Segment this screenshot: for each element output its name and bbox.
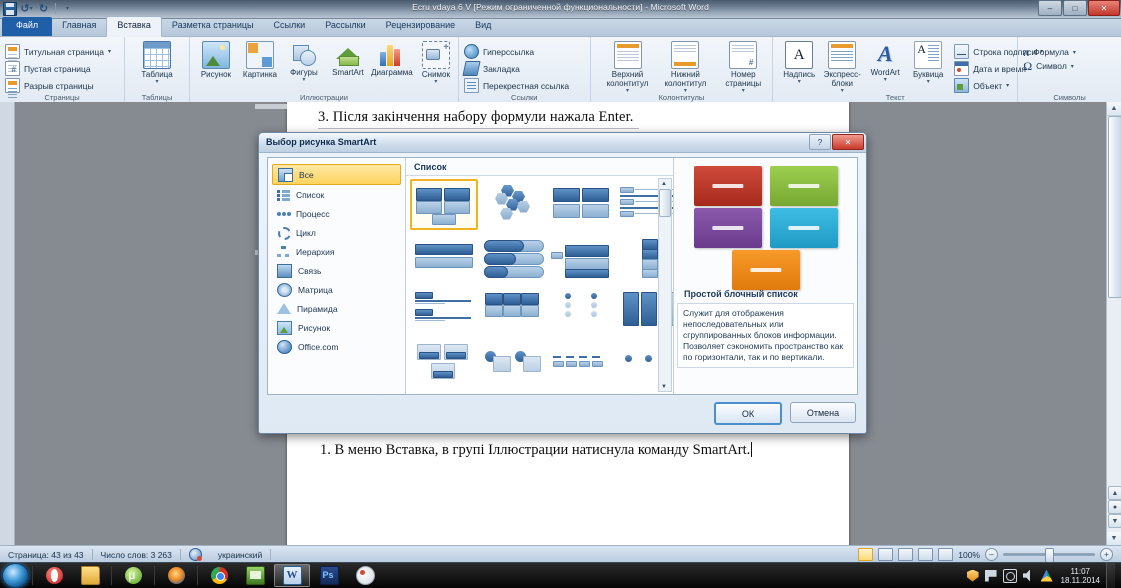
category-pyramid[interactable]: Пирамида <box>272 299 401 318</box>
dialog-window-controls: ? ✕ <box>809 134 864 150</box>
divider <box>154 566 155 585</box>
margin-mark <box>255 104 287 109</box>
wordart-icon: A <box>872 41 898 67</box>
chevron-down-icon: ▾ <box>1006 82 1009 89</box>
layout-hexagon-cluster[interactable] <box>480 179 546 228</box>
page-break-label: Разрыв страницы <box>24 81 94 91</box>
matrix-icon <box>277 283 292 297</box>
previous-page-button[interactable]: ▲ <box>1108 486 1121 500</box>
dialog-close-button[interactable]: ✕ <box>832 134 864 150</box>
footer-button[interactable]: Нижний колонтитул ▾ <box>661 41 709 94</box>
smartart-label: SmartArt <box>332 68 364 77</box>
chevron-down-icon: ▾ <box>884 78 887 83</box>
scroll-up-button[interactable]: ▲ <box>1107 102 1121 116</box>
group-label-illustrations: Иллюстрации <box>190 93 458 102</box>
group-label-text: Текст <box>773 93 1017 102</box>
photoshop-icon <box>320 566 339 585</box>
chrome-icon <box>211 567 228 584</box>
dialog-titlebar: Выбор рисунка SmartArt ? ✕ <box>259 133 866 153</box>
picture-icon <box>277 321 292 335</box>
scrollbar-thumb[interactable] <box>1108 116 1121 298</box>
cycle-icon <box>277 227 290 239</box>
pyramid-icon <box>277 303 291 314</box>
page-number-label: Номер страницы <box>719 70 767 88</box>
category-label: Рисунок <box>298 323 330 333</box>
footer-label: Нижний колонтитул <box>661 70 709 88</box>
document-area: 3. Після закінчення набору формули нажал… <box>0 102 1121 546</box>
shapes-button[interactable]: Фигуры ▾ <box>285 41 323 83</box>
window-controls: – □ ✕ <box>1038 0 1120 16</box>
group-label-links: Ссылки <box>459 93 590 102</box>
gallery-scrollbar-thumb[interactable] <box>659 189 671 217</box>
preview-title: Простой блочный список <box>674 289 798 299</box>
layout-grid <box>410 179 657 394</box>
ribbon-group-text: A Надпись ▾ Экспресс-блоки ▾ A WordArt ▾ <box>772 37 1017 103</box>
tab-file[interactable]: Файл <box>2 17 52 36</box>
header-icon <box>614 41 642 69</box>
bookmark-icon <box>462 61 480 76</box>
category-label: Пирамида <box>297 304 338 314</box>
preview-description: Служит для отображения непоследовательны… <box>677 303 854 368</box>
symbol-label: Символ <box>1036 61 1067 71</box>
bookmark-label: Закладка <box>483 64 520 74</box>
view-print-layout-button[interactable] <box>858 548 873 561</box>
status-page[interactable]: Страница: 43 из 43 <box>0 550 92 560</box>
tab-review[interactable]: Рецензирование <box>376 17 466 36</box>
symbol-button[interactable]: Ω Символ ▾ <box>1023 60 1076 72</box>
blank-page-icon <box>5 61 20 76</box>
clock[interactable]: 11:07 18.11.2014 <box>1059 567 1100 585</box>
word-window: ↺▾ ↻ ▾ Ecru vdaya 6 V [Режим ограниченно… <box>0 0 1121 563</box>
close-button[interactable]: ✕ <box>1088 0 1120 16</box>
taskbar: 11:07 18.11.2014 <box>0 562 1121 588</box>
category-list: Все Список Процесс Цикл <box>268 158 406 394</box>
chevron-down-icon: ▾ <box>1073 49 1076 56</box>
drop-cap-icon <box>914 41 942 69</box>
view-outline-button[interactable] <box>918 548 933 561</box>
category-office-com[interactable]: Office.com <box>272 337 401 356</box>
layout-rounded-bars[interactable] <box>480 233 546 282</box>
picture-icon <box>202 41 230 69</box>
layout-indented-list[interactable] <box>548 233 614 282</box>
taskbar-item-word[interactable] <box>274 564 310 587</box>
date-time-icon <box>954 61 969 76</box>
chevron-down-icon: ▾ <box>156 80 159 85</box>
text-box-label: Надпись <box>783 70 815 79</box>
category-relationship[interactable]: Связь <box>272 261 401 280</box>
category-label: Матрица <box>298 285 333 295</box>
page-number-icon <box>729 41 757 69</box>
layout-circle-block-pairs[interactable] <box>480 337 546 386</box>
process-icon <box>277 208 290 220</box>
shapes-icon <box>291 41 317 67</box>
text-box-icon: A <box>785 41 813 69</box>
gallery-scroll-down[interactable]: ▼ <box>659 382 669 391</box>
ribbon-group-header-footer: Верхний колонтитул ▾ Нижний колонтитул ▾… <box>590 37 773 103</box>
tab-view[interactable]: Вид <box>465 17 501 36</box>
zoom-slider[interactable] <box>1003 553 1095 556</box>
wordart-button[interactable]: A WordArt ▾ <box>866 41 904 83</box>
hyperlink-icon <box>464 44 479 59</box>
status-proofing[interactable] <box>181 548 210 561</box>
signature-line-icon <box>954 44 969 59</box>
zoom-in-button[interactable]: + <box>1100 548 1113 561</box>
group-label-pages: Страницы <box>0 93 124 102</box>
category-process[interactable]: Процесс <box>272 204 401 223</box>
list-icon <box>277 189 290 201</box>
cancel-button[interactable]: Отмена <box>790 402 856 423</box>
category-label: Office.com <box>298 342 338 352</box>
layout-arrow-steps[interactable] <box>548 337 614 386</box>
bookmark-button[interactable]: Закладка <box>464 61 569 76</box>
equation-button[interactable]: π Формула ▾ <box>1023 46 1076 58</box>
category-label: Процесс <box>296 209 330 219</box>
category-label: Связь <box>298 266 322 276</box>
layout-grid-blocks[interactable] <box>480 285 546 334</box>
layout-ascending-blocks[interactable] <box>548 389 614 394</box>
zoom-level[interactable]: 100% <box>958 550 980 560</box>
layout-grid-six[interactable] <box>480 389 546 394</box>
category-all[interactable]: Все <box>272 164 401 185</box>
status-right: 100% – + <box>858 548 1121 561</box>
ribbon-group-links: Гиперссылка Закладка Перекрестная ссылка… <box>458 37 590 103</box>
taskbar-item-paint[interactable] <box>348 565 382 586</box>
layout-gallery-pane: Список <box>406 158 673 394</box>
category-list-item[interactable]: Список <box>272 185 401 204</box>
category-hierarchy[interactable]: Иерархия <box>272 242 401 261</box>
all-icon <box>278 168 293 182</box>
green-app-icon <box>246 566 265 585</box>
clock-date: 18.11.2014 <box>1061 576 1100 585</box>
preview-block-5 <box>732 250 800 290</box>
hierarchy-icon <box>277 246 290 258</box>
category-picture[interactable]: Рисунок <box>272 318 401 337</box>
preview-block-1 <box>694 166 762 206</box>
utorrent-icon <box>125 567 142 584</box>
text-cursor <box>751 442 752 457</box>
chart-icon <box>379 41 405 67</box>
quick-parts-button[interactable]: Экспресс-блоки ▾ <box>823 41 861 94</box>
word-icon <box>283 566 302 585</box>
window-title: Ecru vdaya 6 V [Режим ограниченной функц… <box>0 2 1121 12</box>
google-drive-icon[interactable] <box>1041 570 1053 582</box>
category-cycle[interactable]: Цикл <box>272 223 401 242</box>
preview-block-3 <box>694 208 762 248</box>
scroll-down-button[interactable]: ▼ <box>1107 532 1121 546</box>
chevron-down-icon: ▾ <box>108 48 111 55</box>
select-browse-object-button[interactable]: ● <box>1108 500 1121 514</box>
equation-label: Формула <box>1033 47 1069 57</box>
cover-page-label: Титульная страница <box>24 47 104 57</box>
header-label: Верхний колонтитул <box>604 70 652 88</box>
smartart-button[interactable]: SmartArt <box>329 41 367 77</box>
vertical-ruler <box>0 102 15 546</box>
volume-icon[interactable] <box>1023 570 1035 582</box>
category-label: Цикл <box>296 228 316 238</box>
group-label-symbols: Символы <box>1018 93 1121 102</box>
chevron-down-icon: ▾ <box>798 80 801 85</box>
chevron-down-icon: ▾ <box>927 80 930 85</box>
divider <box>111 566 112 585</box>
status-word-count[interactable]: Число слов: 3 263 <box>93 550 180 560</box>
show-desktop-button[interactable] <box>1106 563 1115 588</box>
zoom-slider-handle[interactable] <box>1045 548 1054 563</box>
layout-picture-blocks[interactable] <box>410 337 478 386</box>
picture-button[interactable]: Рисунок <box>197 41 235 79</box>
clock-time: 11:07 <box>1071 567 1090 576</box>
zoom-out-button[interactable]: – <box>985 548 998 561</box>
dialog-title: Выбор рисунка SmartArt <box>266 137 376 147</box>
office-com-icon <box>277 340 292 354</box>
status-bar: Страница: 43 из 43 Число слов: 3 263 укр… <box>0 545 1121 563</box>
chevron-down-icon: ▾ <box>302 78 305 83</box>
chart-button[interactable]: Диаграмма <box>373 41 411 77</box>
chevron-down-icon: ▾ <box>1071 63 1074 70</box>
text-box-button[interactable]: A Надпись ▾ <box>780 41 818 85</box>
chevron-down-icon: ▾ <box>434 80 437 85</box>
symbol-icon: Ω <box>1023 60 1032 72</box>
tab-home[interactable]: Главная <box>52 17 106 36</box>
blank-page-label: Пустая страница <box>24 64 91 74</box>
tab-references[interactable]: Ссылки <box>264 17 316 36</box>
divider <box>197 566 198 585</box>
layout-stacked-bars[interactable] <box>410 233 478 282</box>
shield-icon[interactable] <box>967 570 979 582</box>
taskbar-item-opera[interactable] <box>37 565 71 586</box>
relationship-icon <box>277 264 292 278</box>
minimize-button[interactable]: – <box>1038 0 1062 16</box>
equation-icon: π <box>1023 46 1029 58</box>
divider <box>32 566 33 585</box>
gallery-scroll-up[interactable]: ▲ <box>659 179 669 188</box>
network-icon[interactable] <box>1003 569 1017 583</box>
tab-insert[interactable]: Вставка <box>106 16 161 37</box>
page-break-icon <box>5 78 20 93</box>
opera-icon <box>46 567 63 584</box>
category-label: Список <box>296 190 324 200</box>
table-icon <box>143 41 171 69</box>
category-label: Все <box>299 170 314 180</box>
preview-block-4 <box>770 208 838 248</box>
taskbar-item-utorrent[interactable] <box>116 565 150 586</box>
group-label-tables: Таблицы <box>125 93 189 102</box>
ribbon-group-illustrations: Рисунок Картинка Фигуры ▾ SmartArt <box>189 37 458 103</box>
page-break-button[interactable]: Разрыв страницы <box>5 78 111 93</box>
gallery-header: Список <box>406 158 673 176</box>
screenshot-label: Снимок <box>422 70 450 79</box>
picture-label: Рисунок <box>201 70 231 79</box>
dialog-help-button[interactable]: ? <box>809 134 831 150</box>
blank-page-button[interactable]: Пустая страница <box>5 61 111 76</box>
ribbon-group-symbols: π Формула ▾ Ω Символ ▾ Символы <box>1017 37 1121 103</box>
document-text-above: 3. Після закінчення набору формули нажал… <box>318 109 633 126</box>
document-scrollbar[interactable]: ▲ ▲ ● ▼ ▼ <box>1106 102 1121 546</box>
hyperlink-button[interactable]: Гиперссылка <box>464 44 569 59</box>
layout-four-blocks[interactable] <box>548 179 614 228</box>
table-button[interactable]: Таблица ▾ <box>138 41 176 85</box>
taskbar-item-firefox[interactable] <box>159 565 193 586</box>
chart-label: Диаграмма <box>371 68 413 77</box>
cross-reference-label: Перекрестная ссылка <box>483 81 569 91</box>
ribbon-group-pages: Титульная страница ▾ Пустая страница Раз… <box>0 37 124 103</box>
start-button[interactable] <box>2 563 29 588</box>
object-icon <box>954 78 969 93</box>
view-draft-button[interactable] <box>938 548 953 561</box>
preview-block-2 <box>770 166 838 206</box>
footer-icon <box>671 41 699 69</box>
ribbon-group-tables: Таблица ▾ Таблицы <box>124 37 189 103</box>
firefox-icon <box>168 567 185 584</box>
cover-page-button[interactable]: Титульная страница ▾ <box>5 44 111 59</box>
proofing-status-icon <box>189 548 202 561</box>
smartart-dialog: Выбор рисунка SmartArt ? ✕ Все <box>258 132 867 434</box>
header-button[interactable]: Верхний колонтитул ▾ <box>604 41 652 94</box>
wordart-label: WordArt <box>871 68 900 77</box>
dialog-body: Все Список Процесс Цикл <box>267 157 858 395</box>
category-matrix[interactable]: Матрица <box>272 280 401 299</box>
layout-three-panel[interactable] <box>410 389 478 394</box>
taskbar-item-green-app[interactable] <box>238 565 272 586</box>
page-number-button[interactable]: Номер страницы ▾ <box>719 41 767 94</box>
smartart-icon <box>335 41 361 67</box>
flag-icon[interactable] <box>985 570 997 582</box>
cross-reference-button[interactable]: Перекрестная ссылка <box>464 78 569 93</box>
next-page-button[interactable]: ▼ <box>1108 514 1121 528</box>
quick-parts-icon <box>828 41 856 69</box>
drop-cap-button[interactable]: Буквица ▾ <box>909 41 947 85</box>
clipart-button[interactable]: Картинка <box>241 41 279 79</box>
preview-pane: Простой блочный список Служит для отобра… <box>673 158 857 394</box>
layout-gallery[interactable]: ▲ ▼ <box>406 176 673 394</box>
desktop: ↺▾ ↻ ▾ Ecru vdaya 6 V [Режим ограниченно… <box>0 0 1121 588</box>
ribbon: Титульная страница ▾ Пустая страница Раз… <box>0 37 1121 104</box>
category-label: Иерархия <box>296 247 335 257</box>
paint-icon <box>356 566 375 585</box>
ribbon-tabs: Файл Главная Вставка Разметка страницы С… <box>0 19 1121 37</box>
hyperlink-label: Гиперссылка <box>483 47 534 57</box>
view-web-layout-button[interactable] <box>898 548 913 561</box>
shapes-label: Фигуры <box>290 68 318 77</box>
system-tray: 11:07 18.11.2014 <box>967 563 1121 588</box>
table-label: Таблица <box>141 70 172 79</box>
taskbar-item-explorer[interactable] <box>73 565 107 586</box>
layout-basic-block-list[interactable] <box>410 179 478 230</box>
clipart-label: Картинка <box>243 70 277 79</box>
drop-cap-label: Буквица <box>913 70 943 79</box>
ok-button[interactable]: ОК <box>714 402 782 425</box>
gallery-scrollbar[interactable]: ▲ ▼ <box>658 178 672 392</box>
taskbar-item-photoshop[interactable] <box>312 565 346 586</box>
view-full-screen-button[interactable] <box>878 548 893 561</box>
divider <box>270 549 271 560</box>
cross-reference-icon <box>464 78 479 93</box>
layout-dot-columns[interactable] <box>548 285 614 334</box>
explorer-icon <box>81 566 100 585</box>
object-label: Объект <box>973 81 1002 91</box>
tab-page-layout[interactable]: Разметка страницы <box>162 17 264 36</box>
layout-label-lines[interactable] <box>410 285 478 334</box>
cover-page-icon <box>5 44 20 59</box>
status-language[interactable]: украинский <box>210 550 270 560</box>
preview-graphic <box>686 164 846 286</box>
group-label-header-footer: Колонтитулы <box>591 93 773 102</box>
screenshot-icon <box>422 41 450 69</box>
taskbar-item-chrome[interactable] <box>202 565 236 586</box>
maximize-button[interactable]: □ <box>1063 0 1087 16</box>
quick-parts-label: Экспресс-блоки <box>823 70 861 88</box>
clipart-icon <box>246 41 274 69</box>
document-text-below: 1. В меню Вставка, в групі Іллюстрации н… <box>320 442 752 459</box>
screenshot-button[interactable]: Снимок ▾ <box>417 41 455 85</box>
tab-mailings[interactable]: Рассылки <box>315 17 375 36</box>
dialog-footer: ОК Отмена <box>714 402 856 425</box>
